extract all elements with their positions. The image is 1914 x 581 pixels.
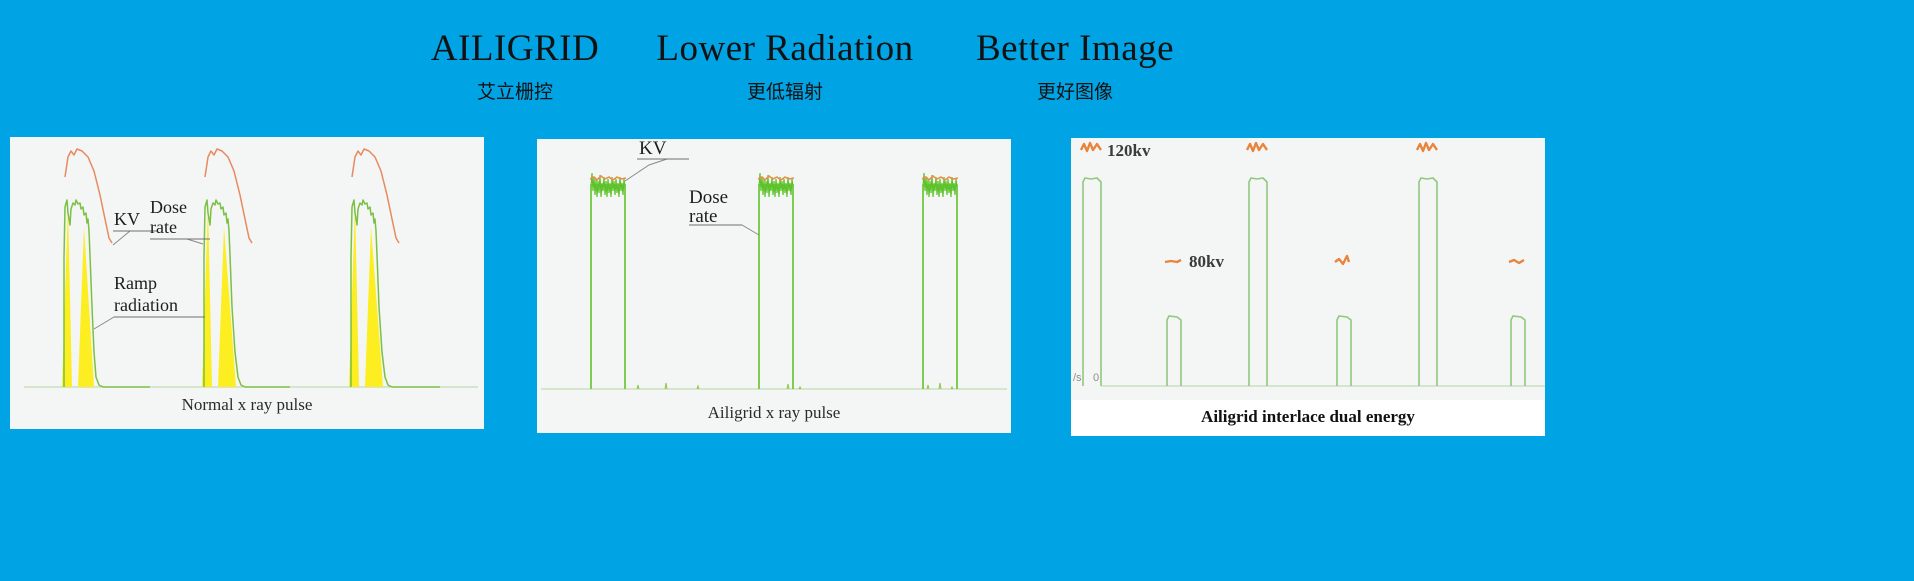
chart-dual-energy: /s 0 (1071, 138, 1545, 400)
dose-rate-noise-2 (759, 173, 793, 197)
marker-120kv-3 (1417, 143, 1437, 151)
annotation-label-dose-line2: rate (689, 206, 717, 227)
pulse-120kv-2 (1249, 178, 1267, 386)
leader-line-ramp (94, 317, 150, 329)
annotation-label-dose-line2: rate (150, 217, 177, 237)
marker-120kv-2 (1247, 143, 1267, 151)
chart-panel-ailigrid-pulse: KV Dose rate Ailigrid x ray pulse (537, 139, 1011, 433)
chart-panel-dual-energy: /s 0 (1071, 138, 1545, 436)
chart-panel-normal-pulse: KV Dose rate Ramp radiation Normal x ray… (10, 137, 484, 429)
pulse-120kv-3 (1419, 178, 1437, 386)
leader-line-kv (625, 159, 667, 181)
header-en-1: Lower Radiation (640, 26, 930, 72)
dose-rate-noise-3 (923, 173, 957, 197)
annotation-label-dose-line1: Dose (150, 197, 187, 217)
legend-label-120kv: 120kv (1107, 141, 1151, 160)
header: AILIGRID 艾立栅控 Lower Radiation 更低辐射 Bette… (0, 26, 1914, 126)
dose-rate-curve-3 (351, 200, 440, 387)
annotation-ramp-radiation: Ramp radiation (94, 273, 205, 329)
annotation-dose-rate: Dose rate (689, 187, 759, 235)
header-group-lower-radiation: Lower Radiation 更低辐射 (640, 26, 930, 107)
dose-rate-pulse-3 (923, 185, 957, 389)
header-en-2: Better Image (930, 26, 1220, 72)
header-cn-2: 更好图像 (930, 77, 1220, 107)
marker-120kv-1 (1081, 143, 1101, 151)
chart-normal-pulse: KV Dose rate Ramp radiation (10, 137, 484, 399)
pulse-80kv-2 (1337, 316, 1351, 386)
pulse-120kv-1 (1083, 178, 1101, 386)
pulse-80kv-1 (1167, 316, 1181, 386)
leader-line-dose-rate (158, 239, 203, 244)
chart-ailigrid-pulse: KV Dose rate (537, 139, 1011, 401)
annotation-label-ramp-line2: radiation (114, 295, 178, 315)
baseline-noise (637, 383, 953, 389)
pulse-group-3 (922, 173, 958, 389)
header-group-better-image: Better Image 更好图像 (930, 26, 1220, 107)
annotation-dose-rate: Dose rate (150, 197, 210, 244)
dose-rate-pulse-1 (591, 185, 625, 389)
panel-caption-normal: Normal x ray pulse (10, 395, 484, 415)
panel-caption-dual-energy: Ailigrid interlace dual energy (1071, 407, 1545, 427)
axis-zero-label: 0 (1093, 372, 1099, 384)
header-group-ailigrid: AILIGRID 艾立栅控 (390, 26, 640, 107)
annotation-label-ramp-line1: Ramp (114, 273, 157, 293)
annotation-label-kv: KV (114, 209, 140, 229)
header-cn-0: 艾立栅控 (390, 77, 640, 107)
marker-80kv-3 (1509, 260, 1524, 263)
pulse-80kv-3 (1511, 316, 1525, 386)
pulse-group-2 (202, 149, 290, 387)
annotation-kv: KV (625, 139, 689, 181)
header-en-0: AILIGRID (390, 26, 640, 72)
axis-unit-label: /s (1073, 372, 1082, 384)
pulse-80kv-group (1167, 316, 1525, 386)
annotation-label-dose-line1: Dose (689, 187, 728, 208)
marker-80kv-1 (1165, 260, 1181, 262)
pulse-group-1 (590, 173, 626, 389)
panel-caption-ailigrid: Ailigrid x ray pulse (537, 403, 1011, 423)
pulse-group-1 (62, 149, 150, 387)
marker-80kv-2 (1335, 256, 1349, 264)
annotation-label-kv: KV (639, 139, 667, 159)
pulse-120kv-group (1083, 178, 1437, 386)
leader-line-dose-rate (717, 225, 759, 235)
pulse-group-3 (349, 149, 440, 387)
dose-rate-pulse-2 (759, 185, 793, 389)
dose-rate-noise-1 (591, 173, 625, 197)
pulse-group-2 (758, 173, 794, 389)
legend-label-80kv: 80kv (1189, 252, 1224, 271)
slide-background: AILIGRID 艾立栅控 Lower Radiation 更低辐射 Bette… (0, 0, 1914, 581)
header-cn-1: 更低辐射 (640, 77, 930, 107)
